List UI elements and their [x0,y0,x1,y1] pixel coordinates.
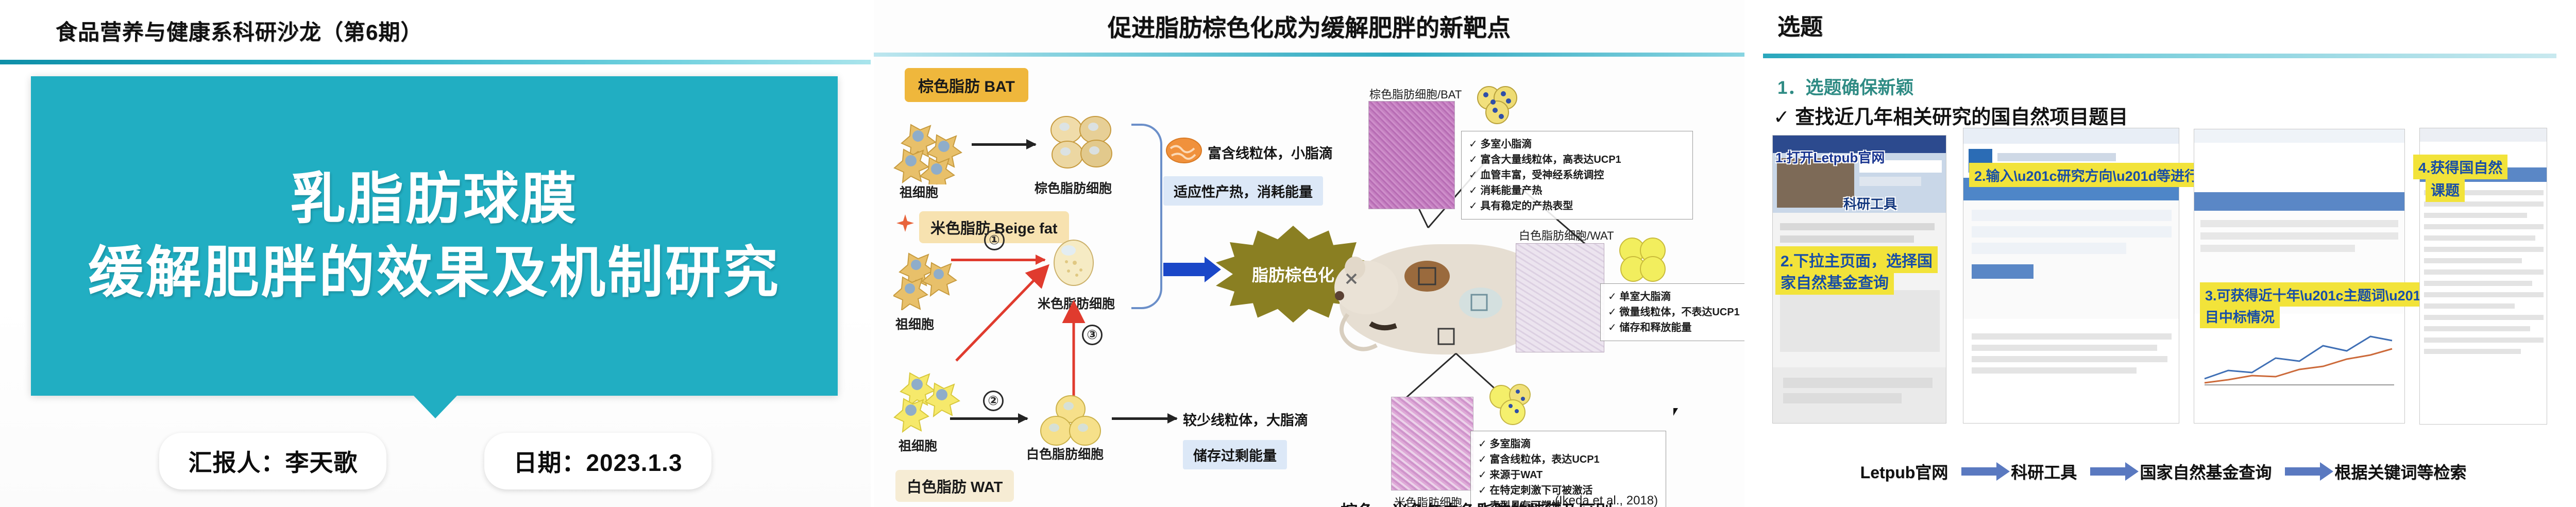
slide1-title-card: 乳脂肪球膜 缓解肥胖的效果及机制研究 [31,76,838,396]
wat-feature-item: 微量线粒体，不表达UCP1 [1608,305,1744,320]
mitochondrion-icon [1165,136,1202,165]
flow-step-letpub: Letpub官网 [1860,460,1948,483]
brown-adipocyte-icon [1047,112,1119,174]
brace-brown-beige [1131,124,1162,309]
progenitor-cells-brown-icon [893,117,971,184]
tag-brown-fat: 棕色脂肪 BAT [905,68,1028,102]
note-few-mito: 较少线粒体，大脂滴 [1183,409,1308,429]
multilocular-droplet-icon [1475,84,1520,126]
progenitor-cells-white-icon [892,366,970,433]
arrow-white-function [1112,417,1177,420]
slide1-header-rule [0,60,871,64]
label-white-adipocyte: 白色脂肪细胞 [1026,444,1104,463]
slide1-header: 食品营养与健康系科研沙龙（第6期） [0,0,871,61]
callout-step3-keyword-results: 3.可获得近十年\u201c主题词\u201d项 [2200,282,2448,307]
wat-feature-item: 单室大脂滴 [1608,289,1744,305]
label-histo-bat: 棕色脂肪细胞/BAT [1369,86,1462,102]
slide1-card-notch [414,396,457,418]
screenshot-keyword-stats[interactable] [2194,129,2405,424]
step-number-2: ② [983,391,1004,411]
white-adipocyte-icon [1038,393,1105,449]
slide2-header-rule [874,53,1744,57]
flow-arrow-icon [1961,467,1997,476]
histology-beige-image [1391,397,1473,491]
flow-arrow-icon [2285,467,2321,476]
sparkle-icon [896,214,914,232]
step-number-1: ① [984,230,1005,250]
tag-white-fat: 白色脂肪 WAT [895,470,1014,502]
bat-feature-item: 消耗能量产热 [1469,183,1685,198]
step-number-3: ③ [1082,325,1103,345]
label-progenitor-beige: 祖细胞 [895,314,934,333]
bat-feature-item: 具有稳定的产热表型 [1469,198,1685,214]
flow-arrow-icon [2090,467,2126,476]
beige-feature-item: 多室脂滴 [1478,436,1658,452]
line-chart-icon [2201,325,2397,387]
mouse-cursor-icon [1673,408,1681,416]
callout-step4-obtain-topic: 4.获得国自然 [2413,155,2507,179]
callout-step2-nsfc-query: 家自然基金查询 [1775,268,1894,295]
slide3-title: 选题 [1777,8,1823,41]
beige-feature-item: 富含线粒体，表达UCP1 [1478,452,1658,467]
label-progenitor-brown: 祖细胞 [900,182,938,201]
label-progenitor-white: 祖细胞 [899,436,937,454]
flow-step-research-tools: 科研工具 [2011,460,2077,483]
callout-step1-open-letpub: 1.打开Letpub官网 [1775,147,1885,166]
wat-feature-list: 单室大脂滴 微量线粒体，不表达UCP1 储存和释放能量 [1600,283,1744,341]
histology-bat-image [1368,101,1455,209]
slide1-main-title: 乳脂肪球膜 缓解肥胖的效果及机制研究 [88,162,781,309]
note-mito-rich: 富含线粒体，小脂滴 [1208,142,1333,162]
callout-step4-topic: 课题 [2426,177,2465,202]
arrow-wat-to-beige [936,263,1070,366]
slide2-diagram: 棕色脂肪 BAT 祖细胞 [874,57,1744,507]
callout-step2-input-direction: 2.输入\u201c研究方向\u201d等进行检索 [1969,163,2231,187]
bat-feature-list: 多室小脂滴 富含大量线粒体，高表达UCP1 血管丰富，受神经系统调控 消耗能量产… [1461,131,1693,219]
slide2-reference: (Ikeda et al., 2018) [1555,494,1658,507]
slide1-date-pill: 日期：2023.1.3 [484,433,711,489]
label-brown-adipocyte: 棕色脂肪细胞 [1035,178,1112,197]
slide2-title: 促进脂肪棕色化成为缓解肥胖的新靶点 [874,9,1744,43]
label-histo-wat: 白色脂肪细胞/WAT [1519,227,1614,243]
bat-feature-item: 富含大量线粒体，高表达UCP1 [1469,152,1685,167]
flow-step-keyword-search: 根据关键词等检索 [2334,460,2466,483]
arrow-beige-white-interconversion [1061,299,1087,407]
callout-step3-funded-status: 目中标情况 [2200,304,2280,328]
slide1-main-title-line2: 缓解肥胖的效果及机制研究 [88,236,781,310]
wat-feature-item: 储存和释放能量 [1608,320,1744,335]
slide1-presenter-pill: 汇报人：李天歌 [159,433,386,489]
unilocular-droplet-icon [1618,237,1667,282]
slide3-bullet-1: ✓ 查找近几年相关研究的国自然项目题目 [1773,101,2128,129]
slide-topic-selection: 选题 1．选题确保新颖 ✓ 查找近几年相关研究的国自然项目题目 1.打开Letp… [1748,0,2576,507]
arrow-to-browning [1163,263,1206,276]
slide-deck: 食品营养与健康系科研沙龙（第6期） 乳脂肪球膜 缓解肥胖的效果及机制研究 汇报人… [0,0,2576,507]
bat-feature-item: 血管丰富，受神经系统调控 [1469,167,1685,183]
flow-step-nsfc-query: 国家自然基金查询 [2140,460,2272,483]
histology-wat-image [1516,243,1604,352]
arrow-beige-formation [951,259,1045,261]
beige-feature-item: 来源于WAT [1478,467,1658,483]
callout-research-tools: 科研工具 [1843,194,1897,213]
slide1-header-title: 食品营养与健康系科研沙龙（第6期） [56,15,422,46]
slide3-header-rule [1763,54,2556,58]
slide-title: 食品营养与健康系科研沙龙（第6期） 乳脂肪球膜 缓解肥胖的效果及机制研究 汇报人… [0,0,871,507]
slide1-main-title-line1: 乳脂肪球膜 [290,167,579,230]
slide3-heading-1: 1．选题确保新颖 [1777,73,1913,99]
arrow-white-differentiation [950,417,1027,420]
beige-droplet-icon [1488,381,1534,427]
slide-browning-target: 促进脂肪棕色化成为缓解肥胖的新靶点 棕色脂肪 BAT 祖细胞 [874,0,1744,507]
slide1-meta-row: 汇报人：李天歌 日期：2023.1.3 [0,433,871,489]
note-adaptive-thermogenesis: 适应性产热，消耗能量 [1163,176,1323,206]
arrow-brown-differentiation [972,143,1036,146]
bat-feature-item: 多室小脂滴 [1469,137,1685,152]
note-store-energy: 储存过剩能量 [1183,440,1287,469]
workflow-row: Letpub官网 科研工具 国家自然基金查询 根据关键词等检索 [1748,460,2576,483]
